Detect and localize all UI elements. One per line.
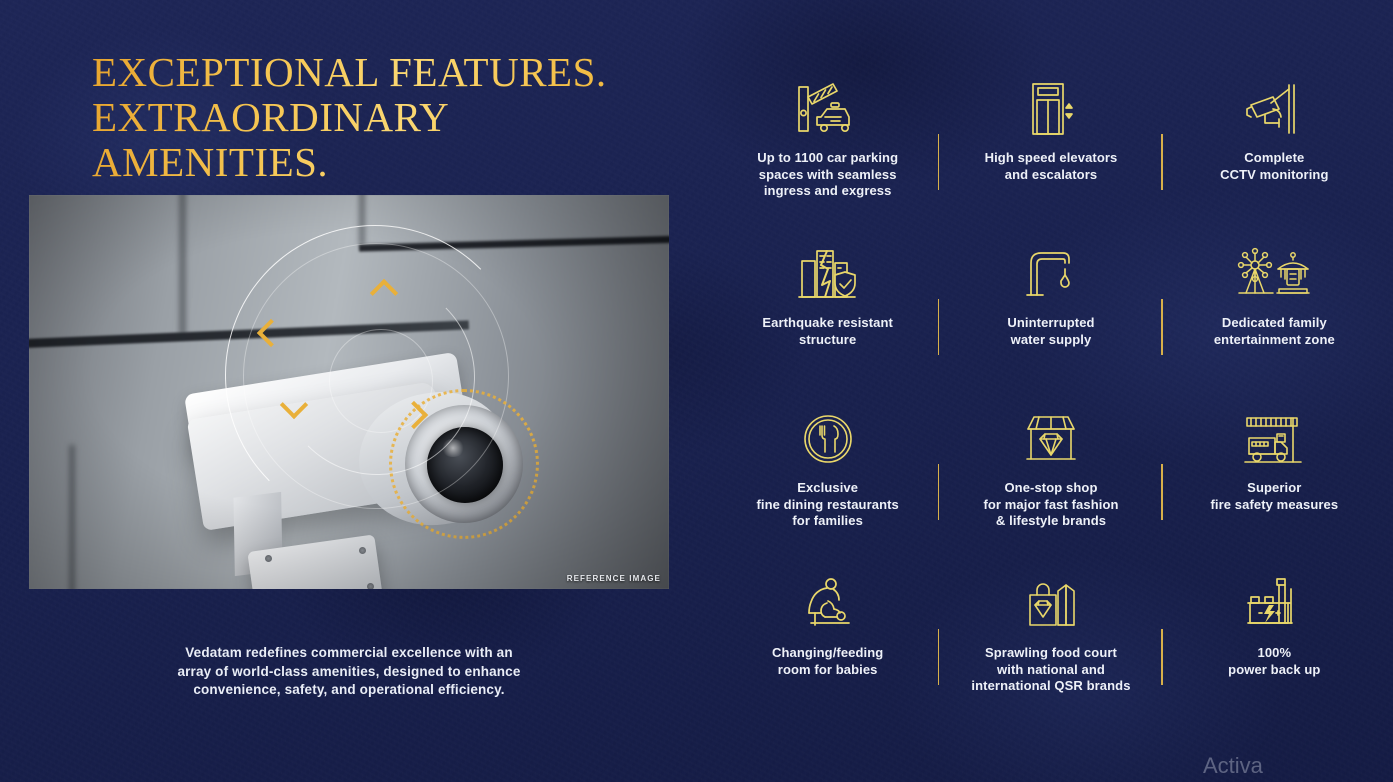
windows-activation-watermark: Activa (1203, 752, 1393, 780)
feature-item-baby-room: Changing/feeding room for babies (716, 555, 939, 720)
feature-item-elevators: High speed elevators and escalators (939, 60, 1162, 225)
cctv-camera-icon (1243, 78, 1305, 140)
feature-item-fire-safety: Superior fire safety measures (1163, 390, 1386, 555)
parking-barrier-car-icon (795, 78, 861, 140)
feature-label: High speed elevators and escalators (985, 150, 1118, 183)
feature-label: One-stop shop for major fast fashion & l… (983, 480, 1118, 530)
feature-item-cctv: Complete CCTV monitoring (1163, 60, 1386, 225)
feature-label: Earthquake resistant structure (762, 315, 893, 348)
feature-item-food-court: Sprawling food court with national and i… (939, 555, 1162, 720)
feature-label: Up to 1100 car parking spaces with seaml… (757, 150, 898, 200)
battery-power-icon (1245, 573, 1303, 635)
feature-item-power-backup: 100% power back up (1163, 555, 1386, 720)
earthquake-building-shield-icon (797, 243, 859, 305)
reference-photo: REFERENCE IMAGE (29, 195, 669, 589)
feature-item-water: Uninterrupted water supply (939, 225, 1162, 390)
feature-label: Uninterrupted water supply (1007, 315, 1094, 348)
water-tap-drop-icon (1025, 243, 1077, 305)
feature-item-entertainment: Dedicated family entertainment zone (1163, 225, 1386, 390)
feature-label: Sprawling food court with national and i… (971, 645, 1130, 695)
feature-item-shop: One-stop shop for major fast fashion & l… (939, 390, 1162, 555)
fork-spoon-circle-icon (803, 408, 853, 470)
shopping-bags-diamond-icon (1022, 573, 1080, 635)
slide-background: EXCEPTIONAL FEATURES. EXTRAORDINARY AMEN… (0, 0, 1393, 782)
feature-label: Dedicated family entertainment zone (1214, 315, 1335, 348)
fire-truck-station-icon (1243, 408, 1305, 470)
feature-label: Exclusive fine dining restaurants for fa… (756, 480, 898, 530)
feature-label: Superior fire safety measures (1210, 480, 1338, 513)
features-grid: Up to 1100 car parking spaces with seaml… (716, 60, 1386, 720)
feature-label: Complete CCTV monitoring (1220, 150, 1328, 183)
left-column: EXCEPTIONAL FEATURES. EXTRAORDINARY AMEN… (0, 0, 700, 782)
baby-changing-icon (797, 573, 859, 635)
feature-item-earthquake: Earthquake resistant structure (716, 225, 939, 390)
feature-label: Changing/feeding room for babies (772, 645, 883, 678)
ferris-wheel-carousel-icon (1233, 243, 1315, 305)
feature-item-parking: Up to 1100 car parking spaces with seaml… (716, 60, 939, 225)
photo-vignette (29, 195, 669, 589)
page-title: EXCEPTIONAL FEATURES. EXTRAORDINARY AMEN… (92, 50, 692, 185)
description-text: Vedatam redefines commercial excellence … (129, 644, 569, 700)
feature-label: 100% power back up (1228, 645, 1320, 678)
elevator-icon (1025, 78, 1077, 140)
reference-image-watermark: REFERENCE IMAGE (567, 574, 661, 583)
shop-awning-diamond-icon (1022, 408, 1080, 470)
feature-item-dining: Exclusive fine dining restaurants for fa… (716, 390, 939, 555)
